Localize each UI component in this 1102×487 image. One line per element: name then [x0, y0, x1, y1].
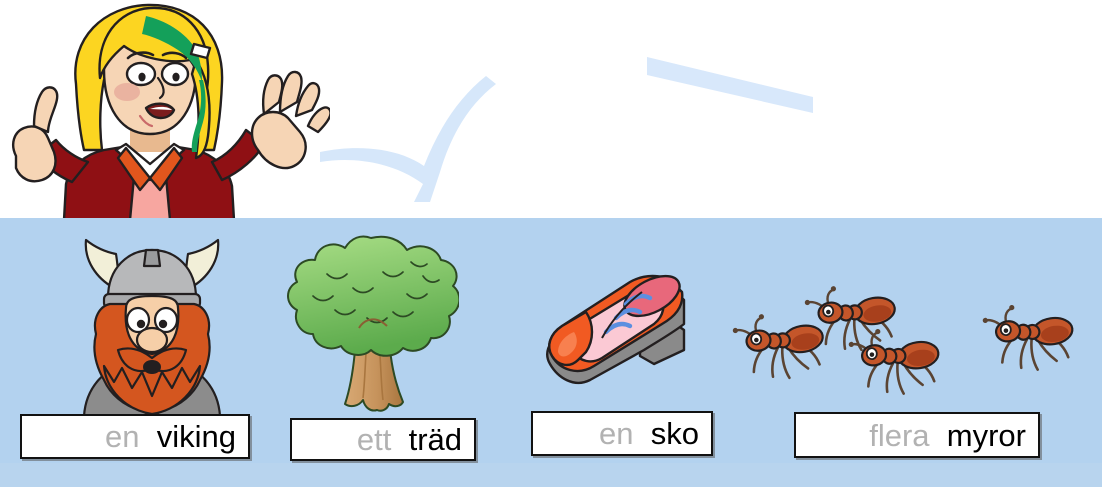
noun-viking: viking — [157, 419, 236, 454]
noun-sko: sko — [651, 416, 699, 451]
label-box-sko[interactable]: en sko — [531, 411, 713, 456]
ants-illustration-icon — [732, 284, 1092, 404]
shoe-illustration-icon — [534, 258, 710, 404]
exercise-screen: en viking — [0, 0, 1102, 487]
ant-3 — [847, 321, 943, 400]
article-viking: en — [105, 419, 139, 454]
check-swoosh-icon — [318, 52, 498, 202]
noun-myror: myror — [947, 418, 1026, 453]
label-box-myror[interactable]: flera myror — [794, 412, 1040, 458]
article-myror: flera — [869, 418, 929, 453]
header-area — [0, 0, 1102, 218]
label-box-trad[interactable]: ett träd — [290, 418, 476, 461]
article-trad: ett — [357, 422, 391, 457]
tree-illustration-icon — [283, 232, 459, 418]
article-sko: en — [599, 416, 633, 451]
viking-illustration-icon — [52, 226, 252, 416]
ant-1 — [732, 304, 829, 386]
cartoon-teacher-avatar — [0, 0, 330, 218]
noun-trad: träd — [409, 422, 462, 457]
ant-4 — [981, 297, 1077, 376]
label-box-viking[interactable]: en viking — [20, 414, 250, 459]
slanted-bar-icon — [645, 55, 825, 115]
panel-footer-strip — [0, 463, 1102, 487]
